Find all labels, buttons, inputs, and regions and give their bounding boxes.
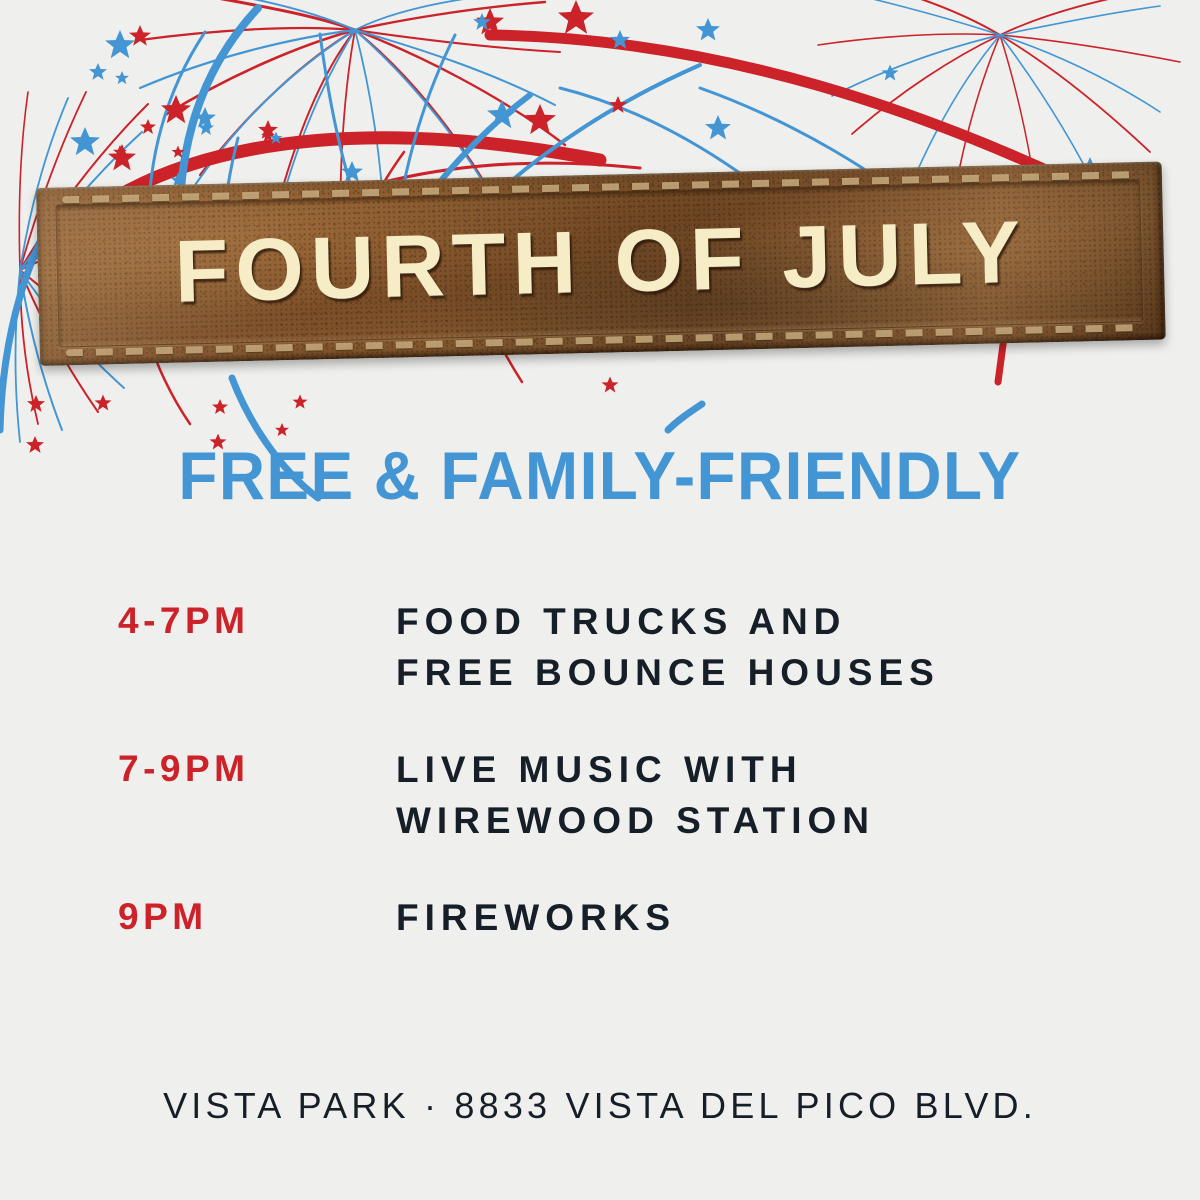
venue-address: VISTA PARK · 8833 VISTA DEL PICO BLVD. — [0, 1085, 1200, 1127]
schedule-time: 9PM — [118, 892, 396, 942]
schedule-description: FOOD TRUCKS AND FREE BOUNCE HOUSES — [396, 596, 1118, 698]
schedule-row: 7-9PM LIVE MUSIC WITH WIREWOOD STATION — [118, 744, 1118, 846]
schedule-description: LIVE MUSIC WITH WIREWOOD STATION — [396, 744, 1118, 846]
poster-tagline: FREE & FAMILY-FRIENDLY — [36, 437, 1164, 515]
event-schedule: 4-7PM FOOD TRUCKS AND FREE BOUNCE HOUSES… — [118, 596, 1118, 989]
fourth-of-july-poster: FOURTH OF JULY FREE & FAMILY-FRIENDLY 4-… — [0, 0, 1200, 1200]
schedule-description: FIREWORKS — [396, 892, 1118, 943]
poster-title: FOURTH OF JULY — [36, 161, 1166, 365]
schedule-time: 4-7PM — [118, 596, 396, 646]
schedule-time: 7-9PM — [118, 744, 396, 794]
schedule-row: 9PM FIREWORKS — [118, 892, 1118, 943]
leather-banner: FOURTH OF JULY — [36, 161, 1166, 365]
schedule-row: 4-7PM FOOD TRUCKS AND FREE BOUNCE HOUSES — [118, 596, 1118, 698]
